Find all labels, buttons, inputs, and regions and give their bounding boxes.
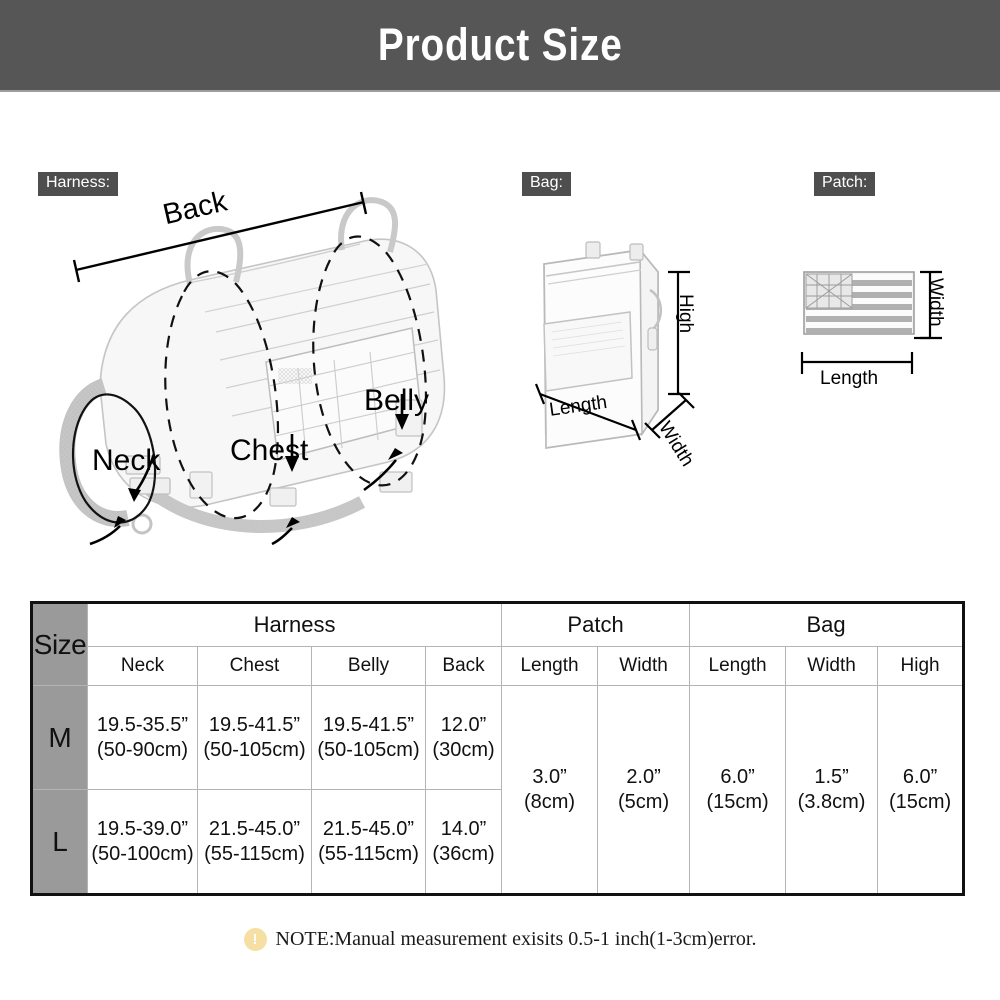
harness-neck-label: Neck (92, 444, 160, 478)
page-header: Product Size (0, 0, 1000, 90)
column-header-patch-length: Length (502, 647, 598, 686)
table-sub-header-row: Neck Chest Belly Back Length Width Lengt… (32, 647, 964, 686)
group-header-harness: Harness (88, 603, 502, 647)
warning-icon: ! (244, 928, 267, 951)
harness-chest-label: Chest (230, 434, 308, 468)
column-header-harness-chest: Chest (198, 647, 312, 686)
cell-m-harness-neck: 19.5-35.5” (50-90cm) (88, 686, 198, 790)
bag-badge: Bag: (522, 172, 571, 196)
group-header-bag: Bag (690, 603, 964, 647)
cell-l-harness-belly: 21.5-45.0” (55-115cm) (312, 790, 426, 895)
harness-badge: Harness: (38, 172, 118, 196)
group-header-patch: Patch (502, 603, 690, 647)
harness-diagram: Harness: Back Neck Chest Belly (30, 172, 470, 562)
cell-l-harness-neck: 19.5-39.0” (50-100cm) (88, 790, 198, 895)
cell-m-harness-back: 12.0” (30cm) (426, 686, 502, 790)
cell-bag-width: 1.5” (3.8cm) (786, 686, 878, 895)
bag-diagram: Bag: High Length Width (500, 172, 760, 562)
cell-bag-high: 6.0” (15cm) (878, 686, 964, 895)
note-text: NOTE:Manual measurement exisits 0.5-1 in… (276, 928, 757, 951)
table-group-header-row: Size Harness Patch Bag (32, 603, 964, 647)
cell-m-harness-belly: 19.5-41.5” (50-105cm) (312, 686, 426, 790)
size-label-l: L (32, 790, 88, 895)
size-label-m: M (32, 686, 88, 790)
bag-high-label: High (674, 294, 696, 333)
patch-length-label: Length (820, 368, 878, 390)
patch-illustration (790, 172, 1000, 502)
cell-m-harness-chest: 19.5-41.5” (50-105cm) (198, 686, 312, 790)
patch-diagram: Patch: Width Length (790, 172, 1000, 502)
column-header-bag-width: Width (786, 647, 878, 686)
harness-illustration (30, 172, 470, 562)
page-title: Product Size (378, 19, 623, 71)
cell-bag-length: 6.0” (15cm) (690, 686, 786, 895)
bag-illustration (500, 172, 760, 562)
cell-l-harness-back: 14.0” (36cm) (426, 790, 502, 895)
table-row: M 19.5-35.5” (50-90cm) 19.5-41.5” (50-10… (32, 686, 964, 790)
diagram-section: Harness: Back Neck Chest Belly (0, 92, 1000, 592)
cell-patch-length: 3.0” (8cm) (502, 686, 598, 895)
cell-l-harness-chest: 21.5-45.0” (55-115cm) (198, 790, 312, 895)
note-row: ! NOTE:Manual measurement exisits 0.5-1 … (0, 928, 1000, 951)
column-header-bag-length: Length (690, 647, 786, 686)
column-header-bag-high: High (878, 647, 964, 686)
column-header-harness-neck: Neck (88, 647, 198, 686)
column-header-patch-width: Width (598, 647, 690, 686)
cell-patch-width: 2.0” (5cm) (598, 686, 690, 895)
harness-belly-label: Belly (364, 384, 429, 418)
patch-badge: Patch: (814, 172, 875, 196)
column-header-harness-belly: Belly (312, 647, 426, 686)
patch-width-label: Width (924, 278, 946, 327)
column-header-harness-back: Back (426, 647, 502, 686)
size-table: Size Harness Patch Bag Neck Chest Belly … (30, 601, 965, 896)
size-column-header: Size (32, 603, 88, 686)
